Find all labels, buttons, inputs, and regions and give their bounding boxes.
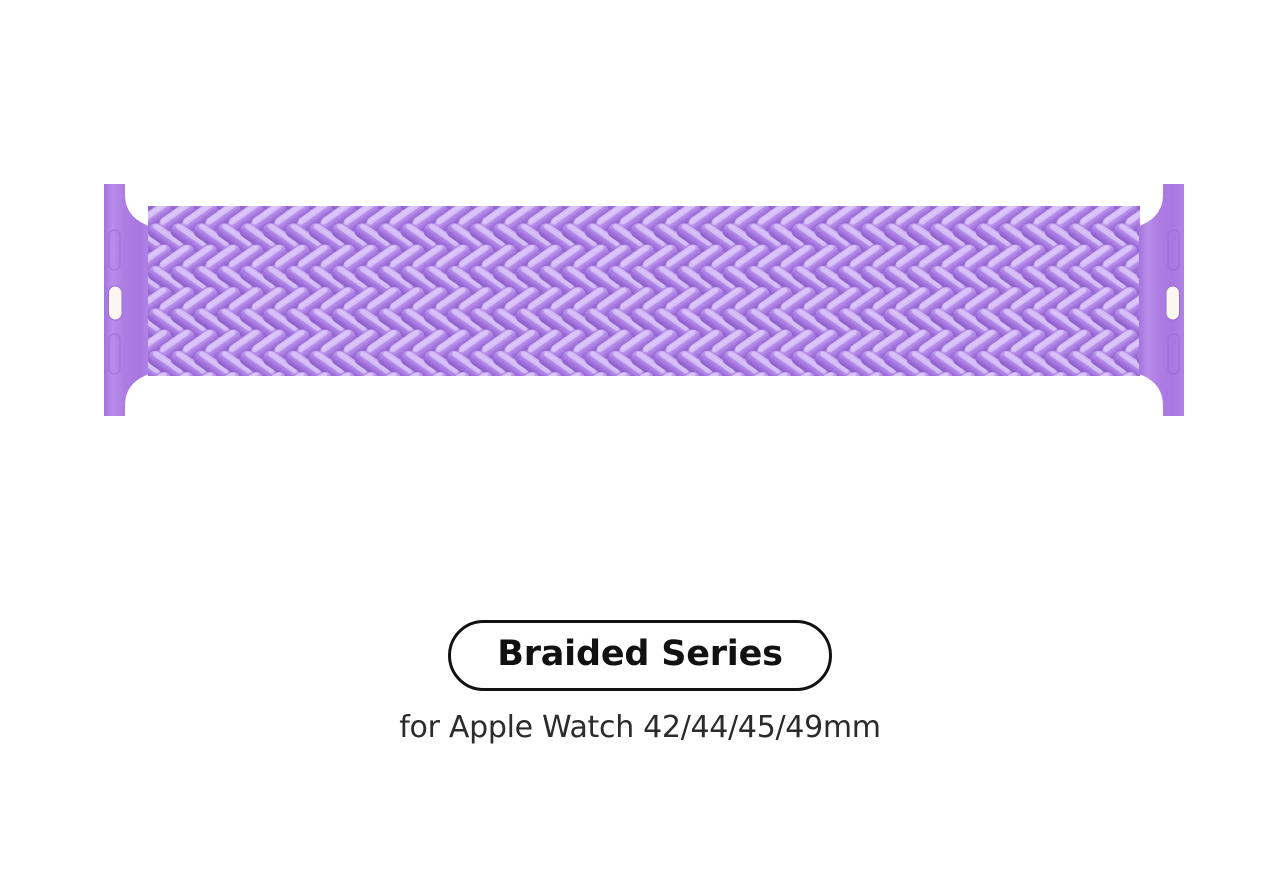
watch-band-figure (103, 180, 1185, 420)
braided-strap (148, 206, 1140, 376)
series-badge-label: Braided Series (497, 637, 783, 672)
caption-block: Braided Series for Apple Watch 42/44/45/… (0, 620, 1280, 743)
band-lug-right (1133, 180, 1185, 420)
series-badge: Braided Series (448, 620, 832, 691)
product-image-stage (0, 0, 1280, 600)
compatibility-label: for Apple Watch 42/44/45/49mm (0, 713, 1280, 743)
